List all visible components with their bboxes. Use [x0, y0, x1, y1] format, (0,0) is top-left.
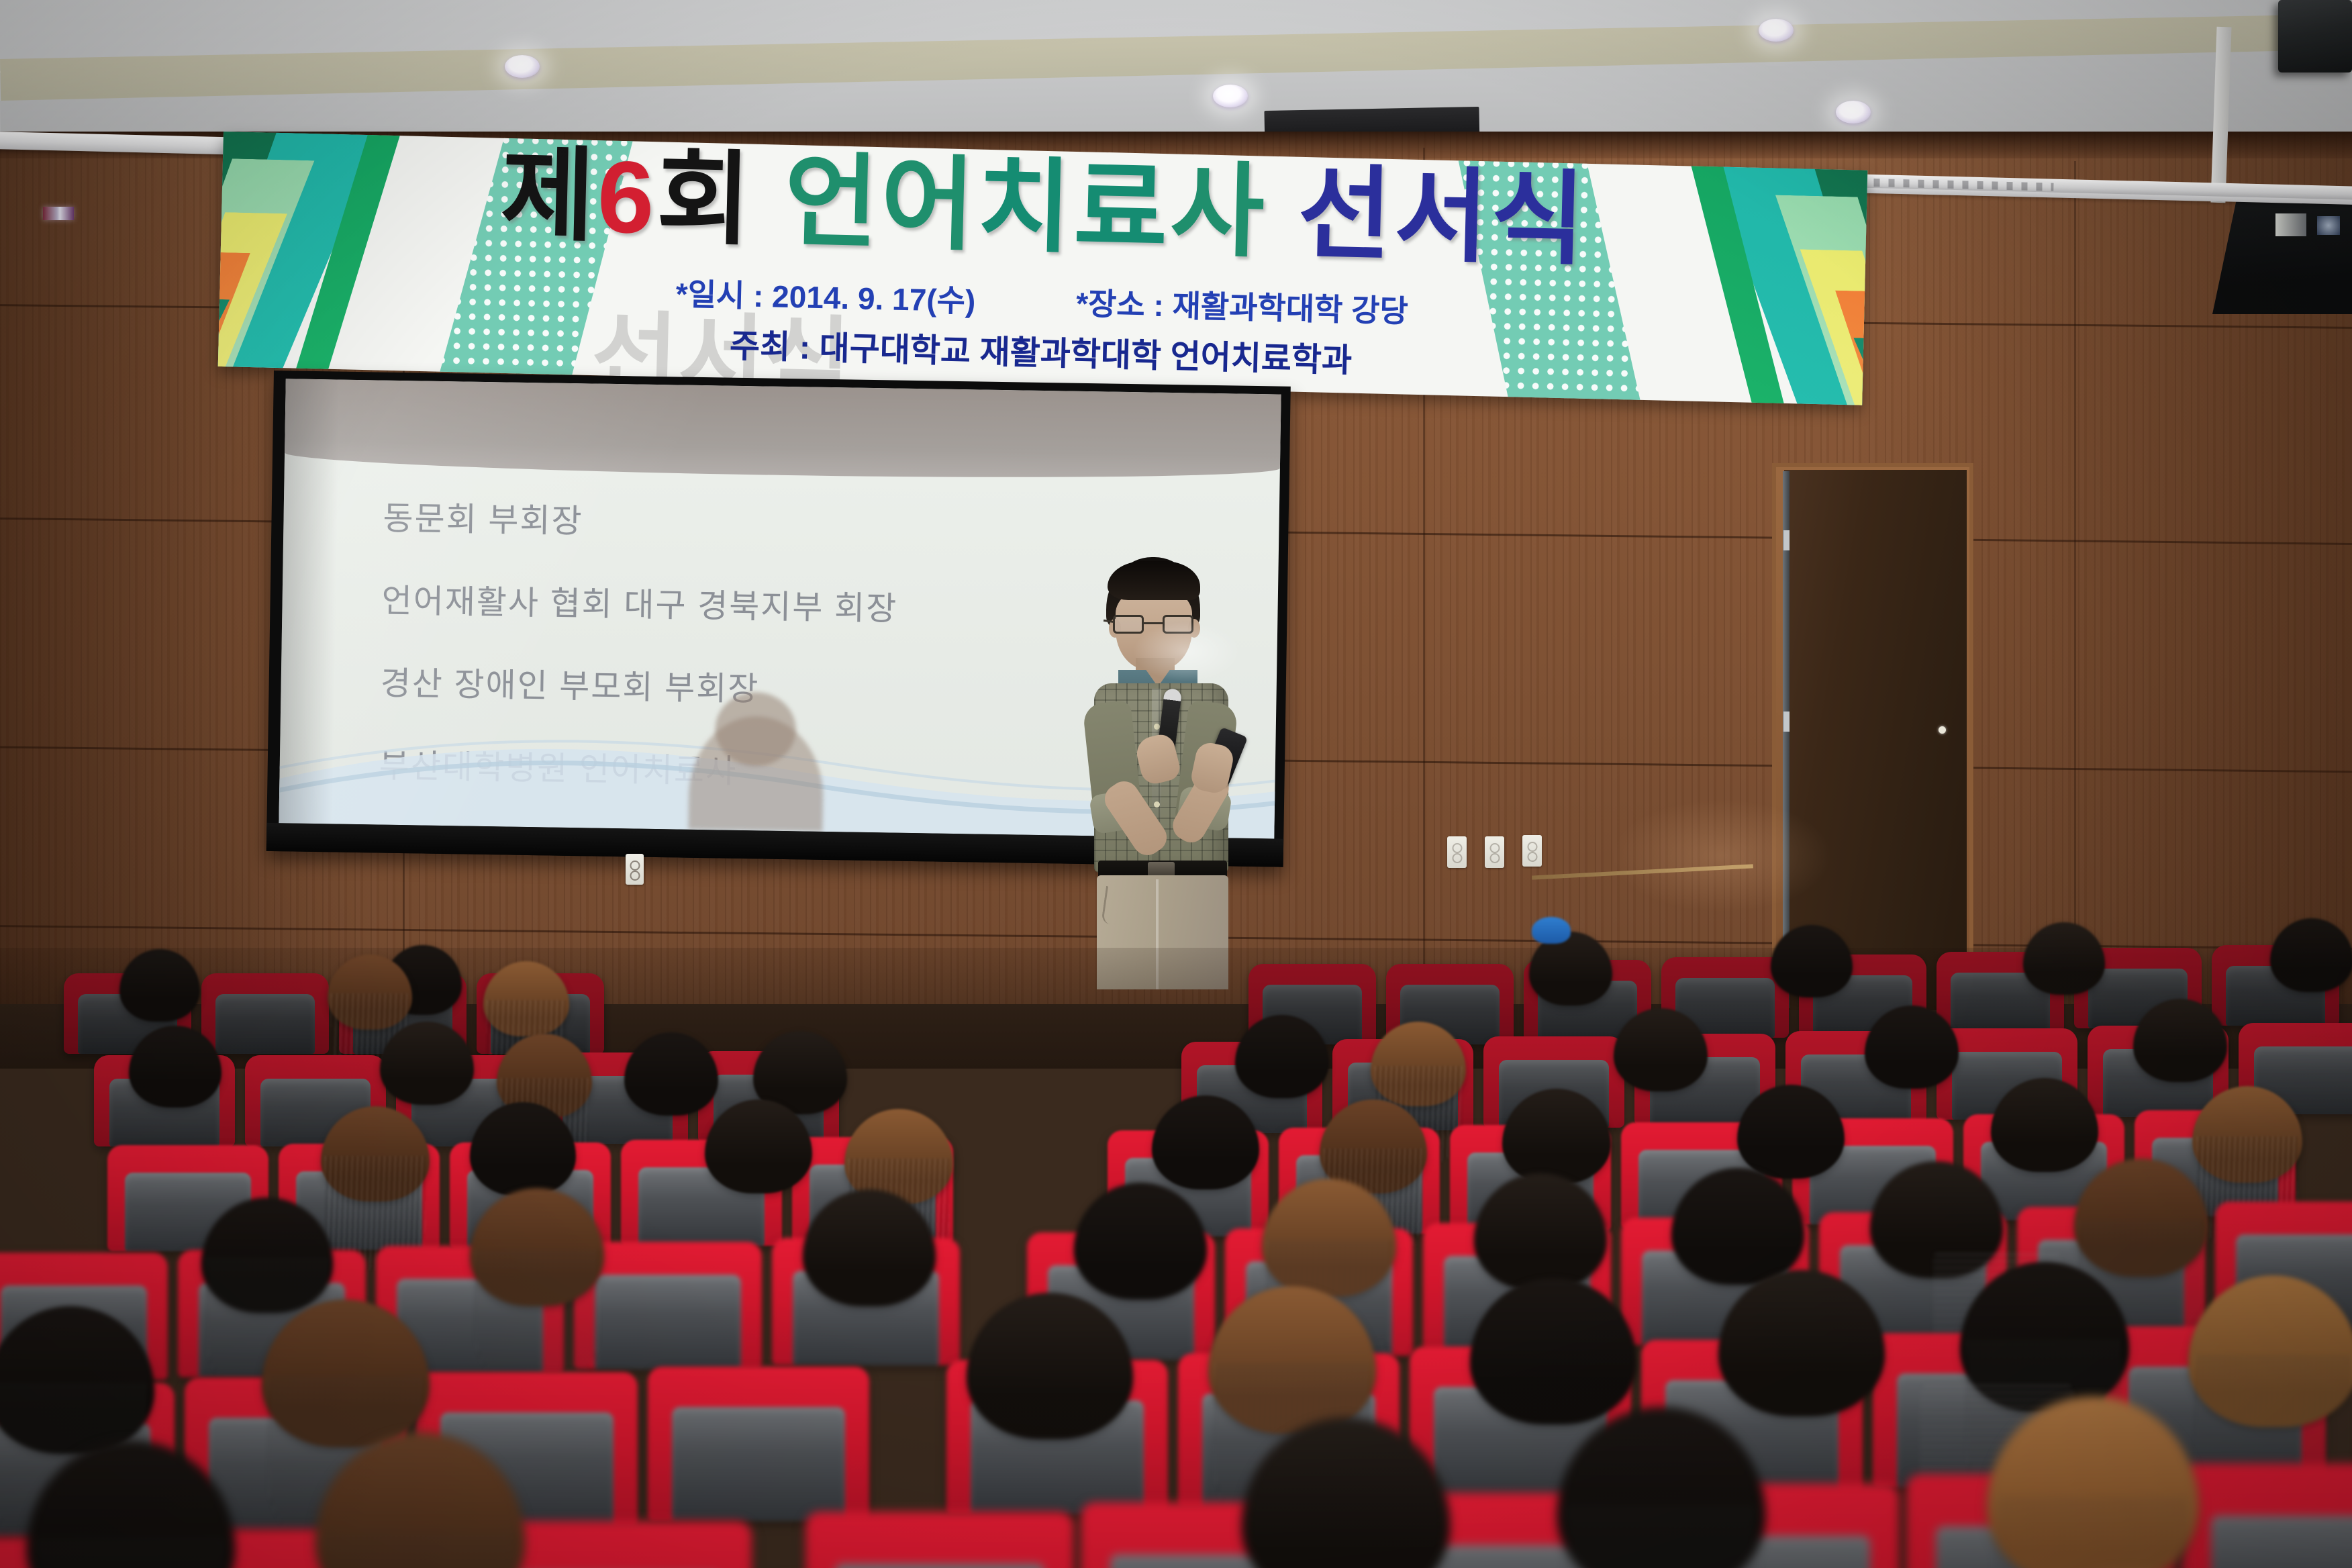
downlight-icon: [1213, 85, 1248, 107]
audience-head: [1771, 925, 1853, 997]
banner-date-label: *일시 : 2014. 9. 17(수): [675, 270, 976, 322]
banner-title-segment: 치료: [976, 149, 1172, 268]
event-banner: 선서식 제6회 언어치료사 선서식 *일시 : 2014. 9. 17(수) *…: [218, 132, 1868, 405]
downlight-icon: [1759, 19, 1794, 42]
loudspeaker-icon: [2278, 0, 2352, 72]
screen-edge-shadow: [279, 379, 339, 824]
banner-title-segment: 선서식: [1297, 156, 1589, 277]
banner-title-segment: 회: [655, 141, 754, 257]
banner-place-label: *장소 : 재활과학대학 강당: [1076, 279, 1409, 332]
banner-title-space: [752, 144, 785, 258]
downlight-icon: [1836, 101, 1871, 124]
seat[interactable]: [201, 973, 329, 1054]
banner-title-segment: 6: [596, 140, 658, 255]
slide-line: 동문회 부회장: [383, 492, 1189, 552]
slide-header-band: [285, 379, 1281, 483]
door-handle[interactable]: [1939, 726, 1946, 734]
loudspeaker-panel: [2275, 213, 2306, 236]
audience-head: [2023, 922, 2105, 995]
audience-head: [483, 961, 569, 1036]
banner-title-segment: 제: [499, 138, 599, 254]
eyeglasses-lens: [1163, 615, 1193, 634]
blue-cap: [1532, 917, 1571, 944]
audience-head: [2270, 918, 2352, 992]
downlight-icon: [505, 55, 540, 78]
wall-outlet: [1447, 836, 1467, 868]
wall-outlet: [1485, 836, 1504, 868]
seat[interactable]: [2182, 1463, 2352, 1568]
eyeglasses-lens: [1113, 615, 1144, 634]
audience-seating: [0, 873, 2352, 1568]
audience-head: [119, 949, 200, 1022]
banner-title-segment: 언어: [783, 144, 979, 263]
banner-title-segment: 사: [1169, 153, 1269, 269]
wall-outlet: [1522, 835, 1542, 867]
shirt-button: [1154, 801, 1160, 807]
seat[interactable]: [648, 1367, 869, 1521]
eyeglasses-bridge: [1144, 622, 1163, 624]
banner-title-space: [1266, 156, 1300, 271]
auditorium-photo: 선서식 제6회 언어치료사 선서식 *일시 : 2014. 9. 17(수) *…: [0, 0, 2352, 1568]
seat[interactable]: [805, 1512, 1074, 1568]
ceiling: [0, 0, 2352, 144]
wall-marker-light: [43, 207, 74, 220]
audience-head: [2188, 1275, 2352, 1427]
loudspeaker-indicator: [2317, 216, 2340, 235]
presenter-hair-front: [1108, 561, 1200, 600]
door-hinge: [1783, 712, 1790, 732]
shirt-button: [1154, 724, 1160, 730]
slide-line: 언어재활사 협회 대구 경북지부 회장: [381, 575, 1187, 635]
door-hinge: [1783, 530, 1790, 550]
audience-head: [624, 1032, 718, 1116]
eyeglasses-icon: [1110, 615, 1199, 635]
